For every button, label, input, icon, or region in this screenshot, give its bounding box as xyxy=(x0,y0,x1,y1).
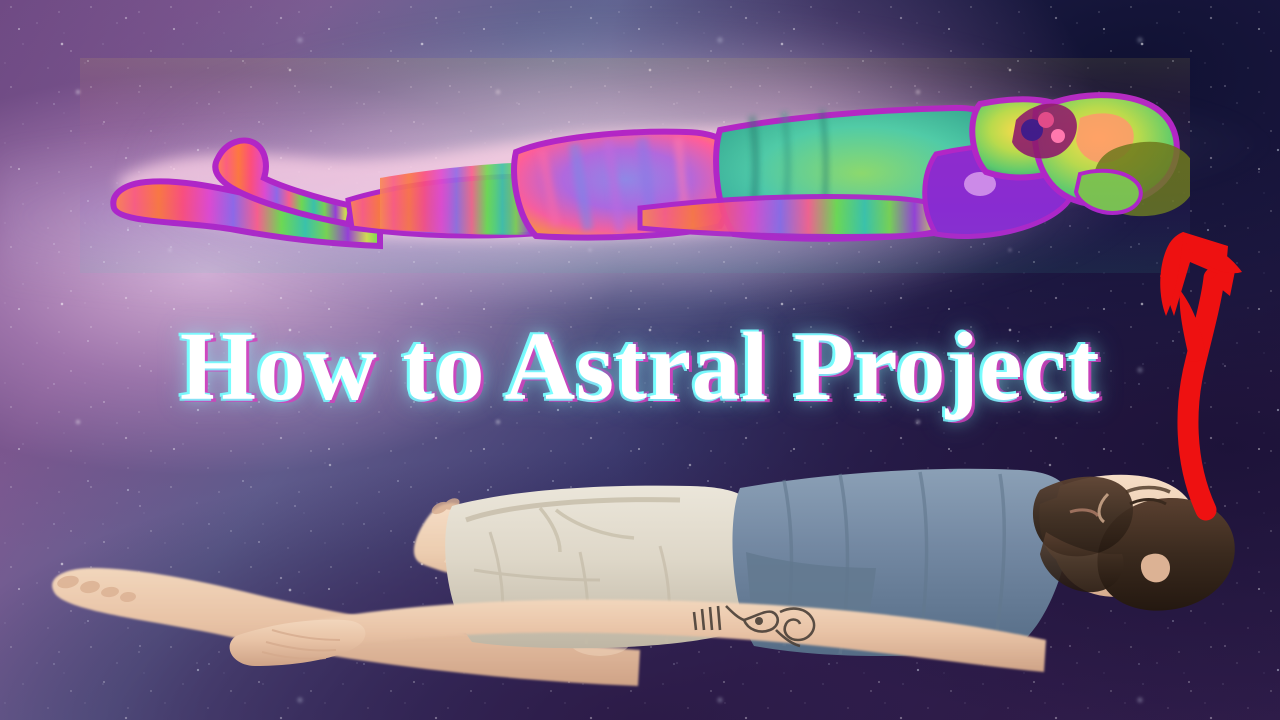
man-lying-down xyxy=(40,460,1250,720)
astral-body-figure xyxy=(80,58,1190,273)
thumbnail-canvas: How to Astral Project xyxy=(0,0,1280,720)
page-title: How to Astral Project xyxy=(0,318,1280,416)
physical-body-figure xyxy=(40,460,1250,720)
astral-body xyxy=(80,58,1190,273)
